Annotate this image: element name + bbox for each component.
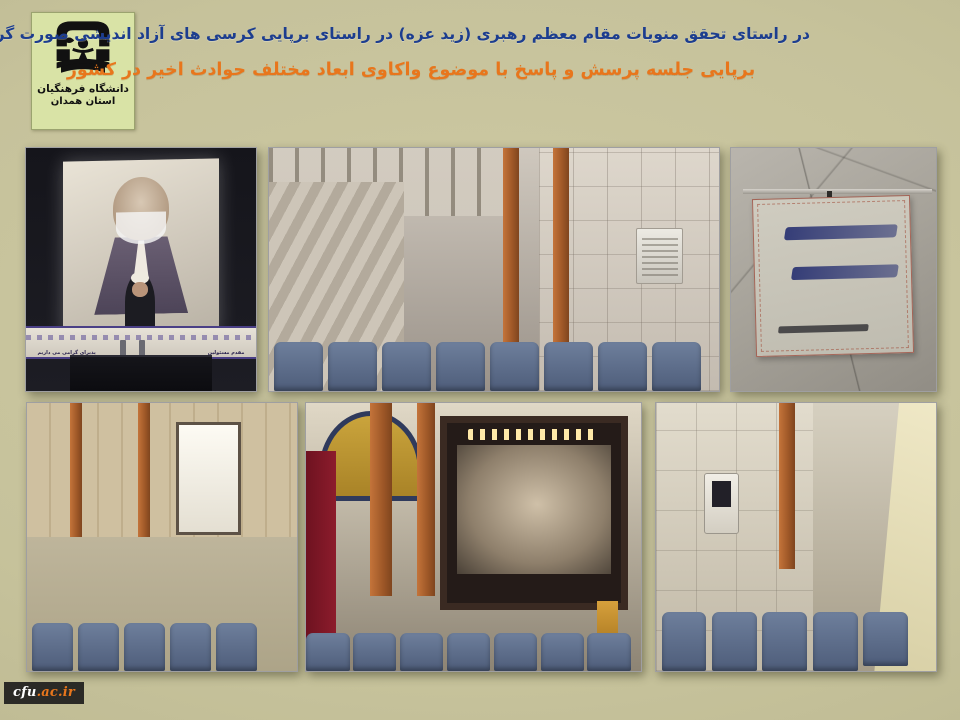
footer-url-main: cfu xyxy=(13,685,37,700)
photo-female-audience-right-scene xyxy=(656,403,936,671)
speaker-face xyxy=(132,282,148,298)
photo-hall-overview xyxy=(305,402,642,672)
photo-hall-overview-scene xyxy=(306,403,641,671)
speaker-table xyxy=(70,355,213,391)
photo-direction-sign: به سمت محل برگزاری جلسه پرسش و پاسخ سالن… xyxy=(730,147,937,392)
sign-handwriting-line-1 xyxy=(784,224,898,240)
wall-control-panel xyxy=(704,473,740,534)
photo-female-audience-right xyxy=(655,402,937,672)
poster-canvas: دانشگاه فرهنگیان استان همدان در راستای ت… xyxy=(0,0,960,720)
photo-female-audience-left xyxy=(26,402,298,672)
stage-lights xyxy=(468,429,600,440)
logo-line-1: دانشگاه فرهنگیان xyxy=(37,84,129,95)
headline-secondary: برپایی جلسه پرسش و پاسخ با موضوع واکاوی … xyxy=(12,58,810,83)
sign-rail xyxy=(743,189,932,194)
poster-header: دانشگاه فرهنگیان استان همدان در راستای ت… xyxy=(0,0,960,142)
sign-handwriting-line-2 xyxy=(791,264,899,280)
footer-url-tld: .ac.ir xyxy=(37,685,75,700)
photo-male-audience-scene xyxy=(269,148,719,391)
stage-projection-screen xyxy=(457,445,610,574)
wood-panel-wall xyxy=(27,403,297,537)
footer-website-url[interactable]: cfu.ac.ir xyxy=(4,682,84,704)
logo-caption: دانشگاه فرهنگیان استان همدان xyxy=(37,84,129,108)
logo-line-2: استان همدان xyxy=(37,97,129,108)
stage-curtain xyxy=(306,451,336,639)
photo-speaker: مقدم مسئولین پذیرای گرامی می داریم xyxy=(25,147,257,392)
sign-paper xyxy=(752,195,914,357)
sign-handwriting-line-3 xyxy=(777,323,868,332)
stage-frame xyxy=(440,416,628,610)
headline-primary: در راستای تحقق منویات مقام معظم رهبری (ز… xyxy=(12,24,810,45)
air-conditioner xyxy=(636,228,683,283)
photo-direction-sign-scene: به سمت محل برگزاری جلسه پرسش و پاسخ سالن… xyxy=(731,148,936,391)
photo-female-audience-left-scene xyxy=(27,403,297,671)
headline-block: در راستای تحقق منویات مقام معظم رهبری (ز… xyxy=(12,24,810,82)
photo-speaker-scene: مقدم مسئولین پذیرای گرامی می داریم xyxy=(26,148,256,391)
photo-male-audience xyxy=(268,147,720,392)
banner-text-right: مقدم مسئولین xyxy=(208,350,245,356)
open-doorway xyxy=(176,422,241,535)
